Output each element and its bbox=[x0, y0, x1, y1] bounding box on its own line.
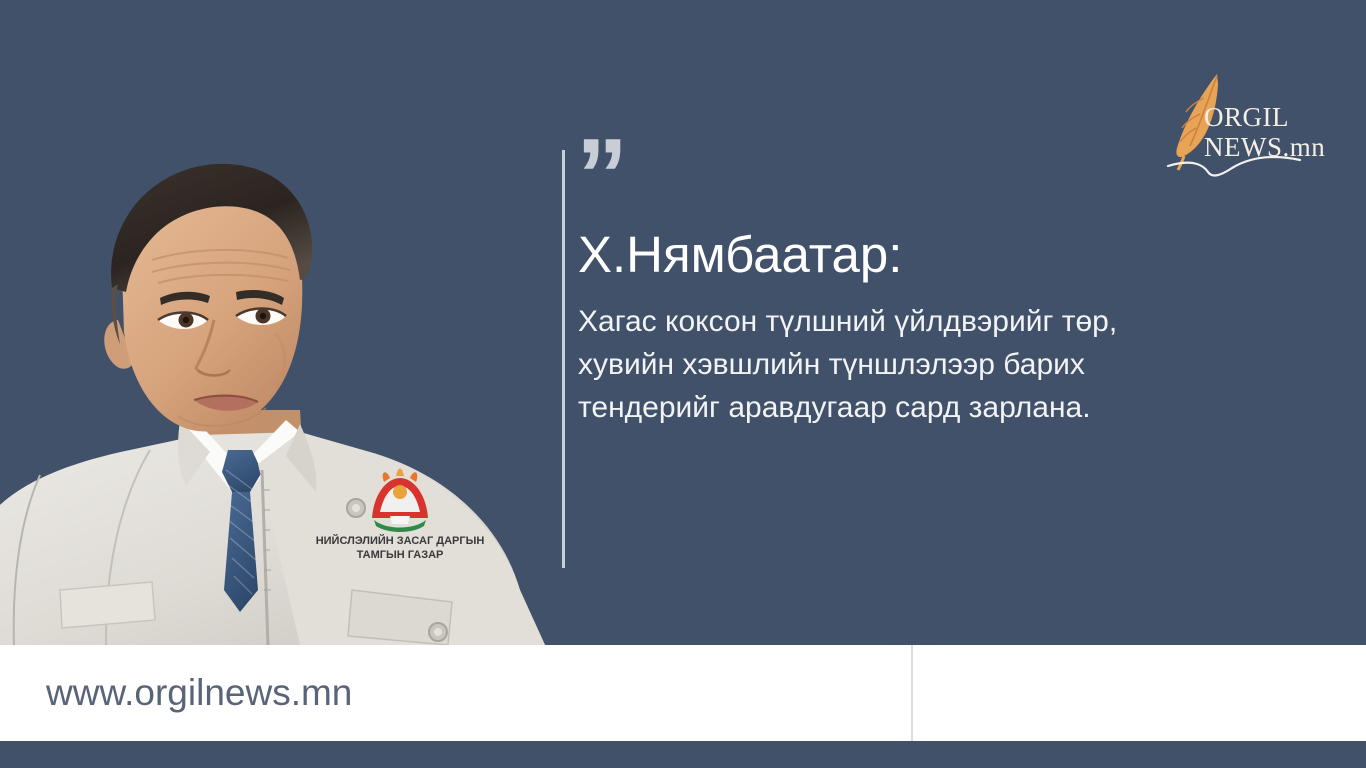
quote-mark-icon: ” bbox=[576, 124, 630, 228]
badge-line-2: ТАМГЫН ГАЗАР bbox=[357, 549, 444, 561]
portrait-photo: НИЙСЛЭЛИЙН ЗАСАГ ДАРГЫН ТАМГЫН ГАЗАР bbox=[0, 120, 580, 645]
quote-card: НИЙСЛЭЛИЙН ЗАСАГ ДАРГЫН ТАМГЫН ГАЗАР bbox=[0, 0, 1366, 768]
logo-line-2: NEWS.mn bbox=[1204, 132, 1325, 162]
logo-line-1: ORGIL bbox=[1204, 102, 1325, 132]
quote-text: Хагас коксон түлшний үйлдвэрийг төр, хув… bbox=[578, 300, 1178, 429]
website-url[interactable]: www.orgilnews.mn bbox=[46, 667, 352, 719]
quote-block: ” Х.Нямбаатар: Хагас коксон түлшний үйлд… bbox=[562, 150, 1202, 570]
speaker-name: Х.Нямбаатар: bbox=[578, 228, 902, 282]
bottom-strip bbox=[0, 741, 1366, 768]
footer-divider bbox=[911, 645, 913, 741]
accent-line bbox=[562, 150, 565, 568]
badge-line-1: НИЙСЛЭЛИЙН ЗАСАГ ДАРГЫН bbox=[316, 534, 485, 547]
logo-wordmark: ORGIL NEWS.mn bbox=[1204, 102, 1325, 162]
logo[interactable]: ORGIL NEWS.mn bbox=[1160, 62, 1330, 182]
footer-bar: www.orgilnews.mn bbox=[0, 645, 1366, 741]
